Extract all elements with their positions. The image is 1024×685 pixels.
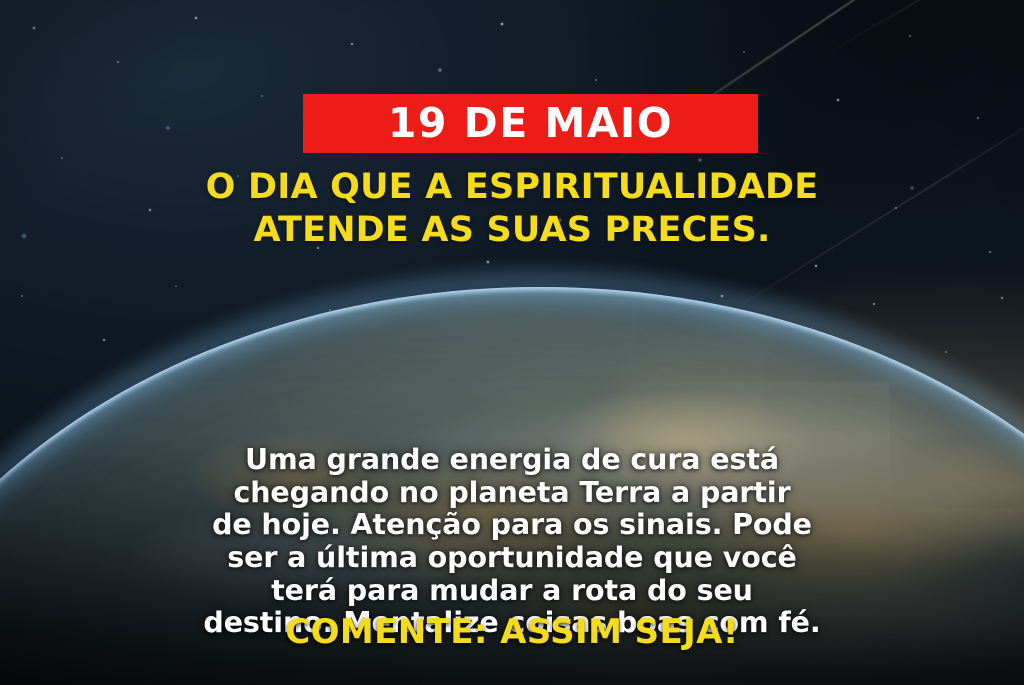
body-line-4: ser a última oportunidade que você — [50, 542, 974, 575]
poster-content: 19 DE MAIO O DIA QUE A ESPIRITUALIDADE A… — [0, 0, 1024, 685]
body-line-5: terá para mudar a rota do seu — [50, 575, 974, 608]
headline-line-2: ATENDE AS SUAS PRECES. — [0, 209, 1024, 252]
date-banner-text: 19 DE MAIO — [388, 103, 673, 144]
body-line-2: chegando no planeta Terra a partir — [50, 477, 974, 510]
poster-image: 19 DE MAIO O DIA QUE A ESPIRITUALIDADE A… — [0, 0, 1024, 685]
headline: O DIA QUE A ESPIRITUALIDADE ATENDE AS SU… — [0, 166, 1024, 252]
headline-line-1: O DIA QUE A ESPIRITUALIDADE — [0, 166, 1024, 209]
body-copy: Uma grande energia de cura está chegando… — [50, 444, 974, 640]
body-line-1: Uma grande energia de cura está — [50, 444, 974, 477]
body-line-3: de hoje. Atenção para os sinais. Pode — [50, 509, 974, 542]
date-banner: 19 DE MAIO — [303, 94, 758, 153]
call-to-action-text: COMENTE: ASSIM SEJA! — [0, 612, 1024, 652]
